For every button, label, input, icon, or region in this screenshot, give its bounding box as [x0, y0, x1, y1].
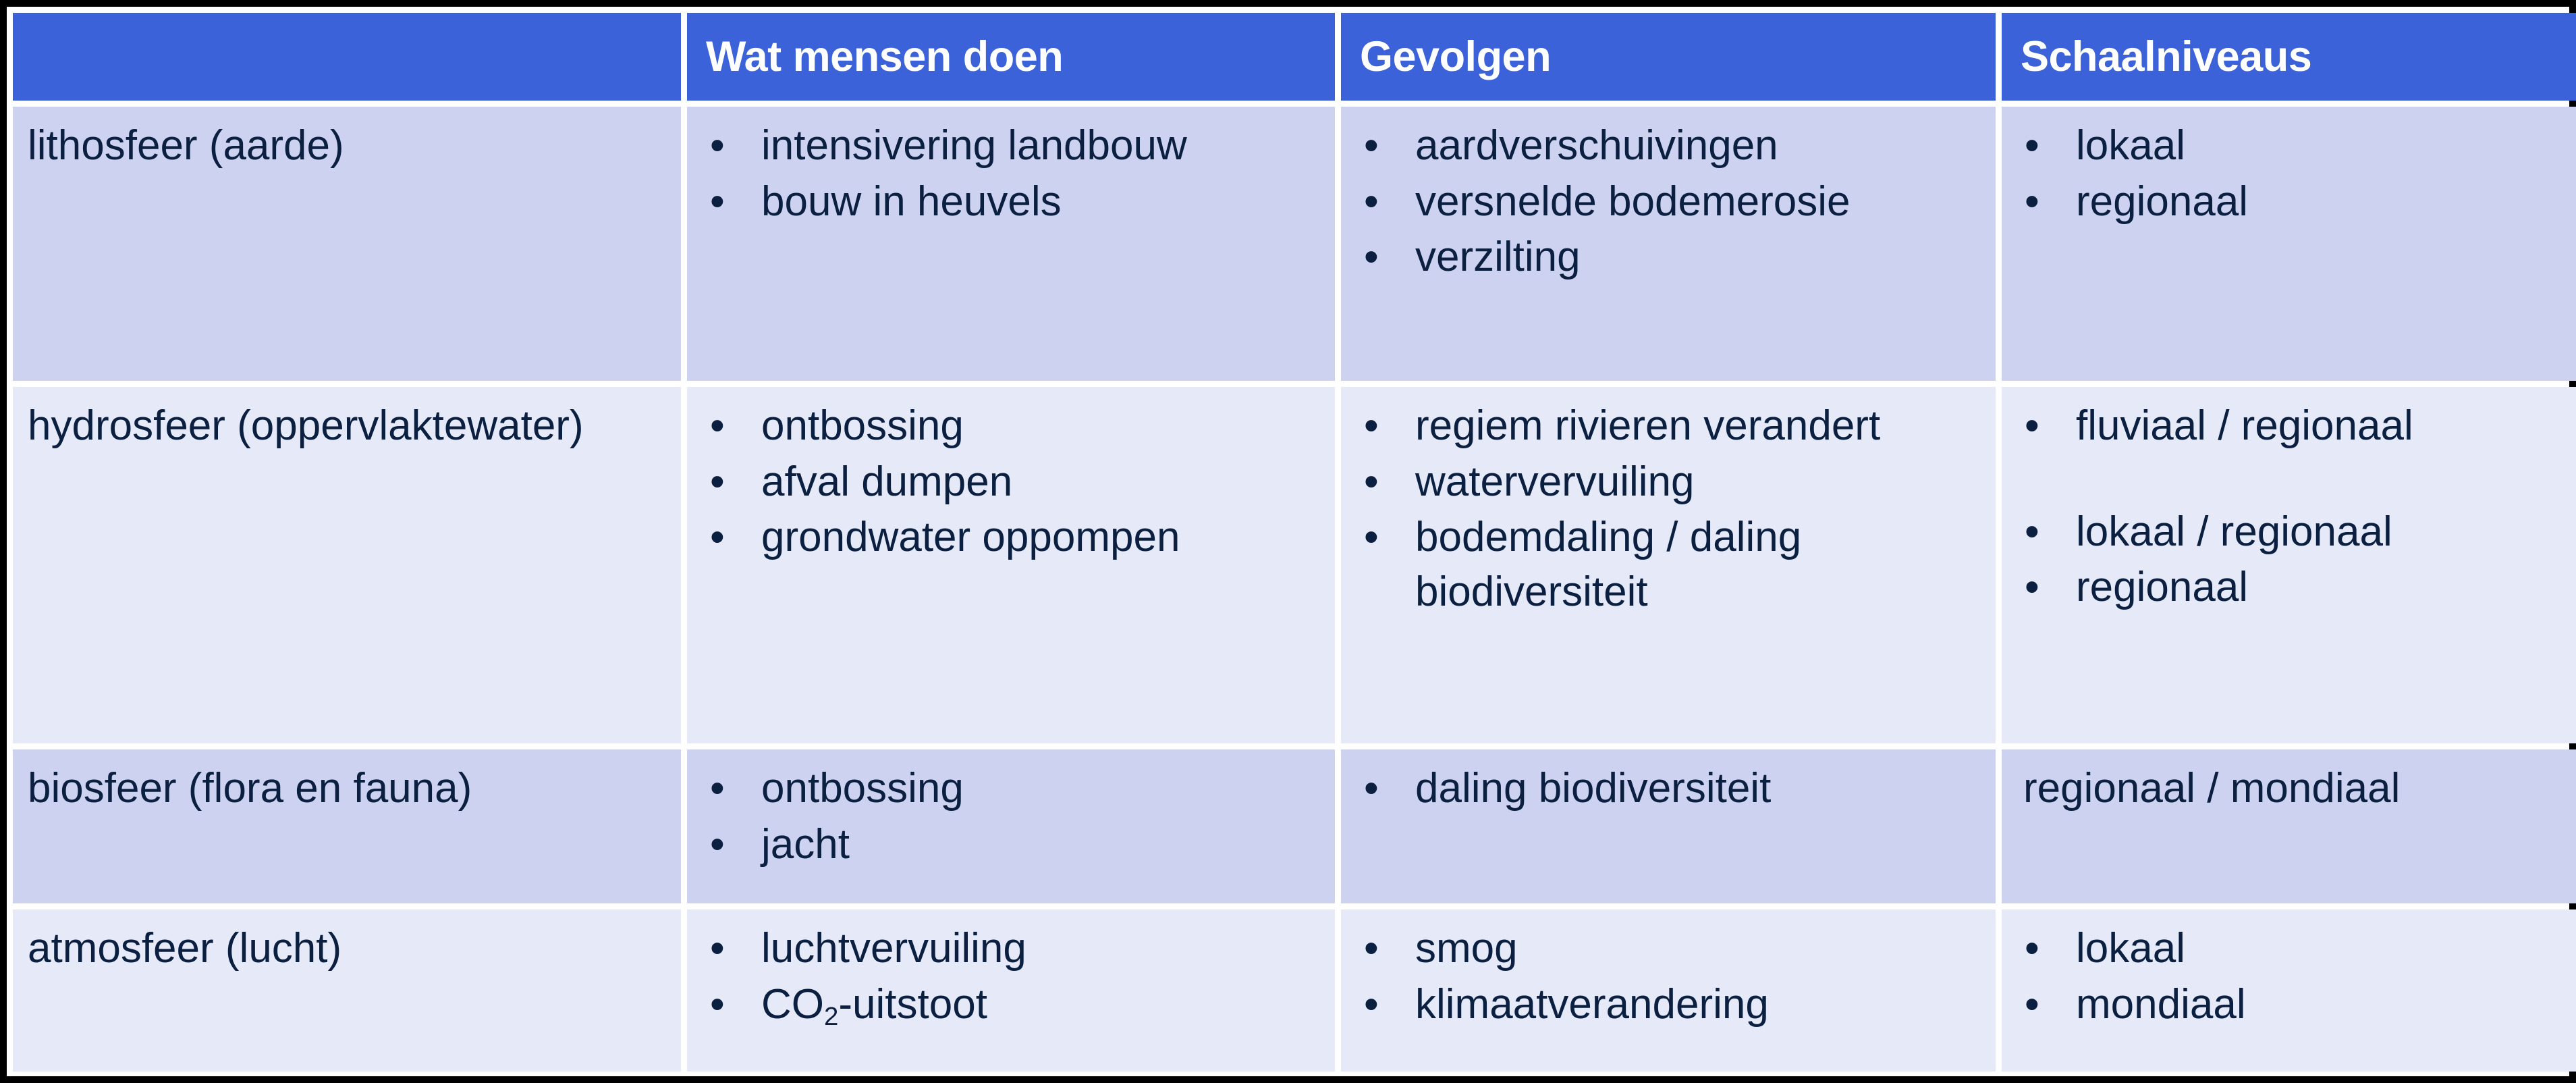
cell-schaalniveaus: regionaal / mondiaal: [2002, 749, 2576, 903]
cell-schaalniveaus: fluviaal / regionaal lokaal / regionaal …: [2002, 387, 2576, 743]
bullet-list: ontbossing afval dumpen grondwater oppom…: [703, 399, 1328, 565]
cell-sfeer: hydrosfeer (oppervlaktewater): [13, 387, 681, 743]
cell-wat-mensen-doen: ontbossing jacht: [687, 749, 1335, 903]
list-item: mondiaal: [2018, 978, 2576, 1032]
list-item: afval dumpen: [703, 455, 1328, 510]
list-item: luchtvervuiling: [703, 922, 1328, 976]
list-item: grondwater oppompen: [703, 510, 1328, 565]
cell-sfeer: biosfeer (flora en fauna): [13, 749, 681, 903]
list-item: klimaatverandering: [1357, 978, 1989, 1032]
list-item: lokaal: [2018, 119, 2576, 174]
list-item: versnelde bodemerosie: [1357, 175, 1989, 230]
bullet-list: smog klimaatverandering: [1357, 922, 1989, 1032]
cell-wat-mensen-doen: intensivering landbouw bouw in heuvels: [687, 107, 1335, 381]
cell-gevolgen: daling biodiversiteit: [1341, 749, 1996, 903]
list-item: intensivering landbouw: [703, 119, 1328, 174]
list-item: aardverschuivingen: [1357, 119, 1989, 174]
cell-gevolgen: aardverschuivingen versnelde bodemerosie…: [1341, 107, 1996, 381]
bullet-list: fluviaal / regionaal lokaal / regionaal …: [2018, 399, 2576, 615]
table-row: lithosfeer (aarde) intensivering landbou…: [13, 107, 2576, 381]
header-row: Wat mensen doen Gevolgen Schaalniveaus: [13, 13, 2576, 101]
table-row: hydrosfeer (oppervlaktewater) ontbossing…: [13, 387, 2576, 743]
subscript-2: 2: [824, 1002, 838, 1031]
list-item: bodemdaling / daling biodiversiteit: [1357, 510, 1989, 619]
header-cell-gevolgen: Gevolgen: [1341, 13, 1996, 101]
list-item: regiem rivieren verandert: [1357, 399, 1989, 454]
list-item: watervervuiling: [1357, 455, 1989, 510]
table-header: Wat mensen doen Gevolgen Schaalniveaus: [13, 13, 2576, 101]
cell-sfeer: lithosfeer (aarde): [13, 107, 681, 381]
list-item: bouw in heuvels: [703, 175, 1328, 230]
cell-wat-mensen-doen: ontbossing afval dumpen grondwater oppom…: [687, 387, 1335, 743]
cell-sfeer: atmosfeer (lucht): [13, 909, 681, 1072]
list-item: fluviaal / regionaal: [2018, 399, 2576, 454]
cell-wat-mensen-doen: luchtvervuiling CO2-uitstoot: [687, 909, 1335, 1072]
bullet-list: intensivering landbouw bouw in heuvels: [703, 119, 1328, 229]
header-cell-sfeer: [13, 13, 681, 101]
list-item: smog: [1357, 922, 1989, 976]
list-item: lokaal: [2018, 922, 2576, 976]
list-item: lokaal / regionaal: [2018, 505, 2576, 560]
list-item: regionaal: [2018, 175, 2576, 230]
list-item: regionaal: [2018, 560, 2576, 615]
table-row: atmosfeer (lucht) luchtvervuiling CO2-ui…: [13, 909, 2576, 1072]
bullet-list: luchtvervuiling CO2-uitstoot: [703, 922, 1328, 1032]
list-item: ontbossing: [703, 399, 1328, 454]
bullet-list: ontbossing jacht: [703, 762, 1328, 872]
bullet-list: regiem rivieren verandert watervervuilin…: [1357, 399, 1989, 619]
table-body: lithosfeer (aarde) intensivering landbou…: [13, 107, 2576, 1072]
cell-gevolgen: regiem rivieren verandert watervervuilin…: [1341, 387, 1996, 743]
table-frame: Wat mensen doen Gevolgen Schaalniveaus l…: [0, 0, 2576, 1083]
co2-label: CO2-uitstoot: [761, 981, 987, 1028]
list-item: jacht: [703, 818, 1328, 872]
bullet-list: daling biodiversiteit: [1357, 762, 1989, 816]
table-row: biosfeer (flora en fauna) ontbossing jac…: [13, 749, 2576, 903]
schaalniveau-text: regionaal / mondiaal: [2018, 762, 2576, 816]
list-item: verzilting: [1357, 230, 1989, 285]
cell-gevolgen: smog klimaatverandering: [1341, 909, 1996, 1072]
cell-schaalniveaus: lokaal mondiaal: [2002, 909, 2576, 1072]
list-item: daling biodiversiteit: [1357, 762, 1989, 816]
cell-schaalniveaus: lokaal regionaal: [2002, 107, 2576, 381]
bullet-list: lokaal regionaal: [2018, 119, 2576, 229]
spheres-impact-table: Wat mensen doen Gevolgen Schaalniveaus l…: [7, 7, 2576, 1078]
list-item-co2: CO2-uitstoot: [703, 978, 1328, 1032]
list-item: ontbossing: [703, 762, 1328, 816]
header-cell-schaalniveaus: Schaalniveaus: [2002, 13, 2576, 101]
header-cell-wat-mensen-doen: Wat mensen doen: [687, 13, 1335, 101]
bullet-list: lokaal mondiaal: [2018, 922, 2576, 1032]
bullet-list: aardverschuivingen versnelde bodemerosie…: [1357, 119, 1989, 285]
